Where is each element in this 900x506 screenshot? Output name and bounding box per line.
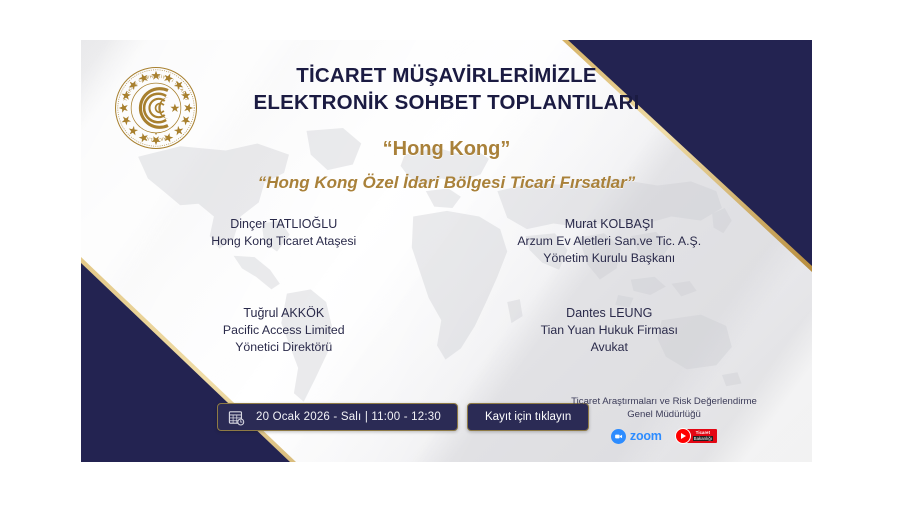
title-line-1: TİCARET MÜŞAVİRLERİMİZLE — [81, 62, 812, 89]
speaker-affiliation: Tian Yuan Hukuk Firması — [447, 322, 773, 339]
speaker-name: Murat KOLBAŞI — [447, 216, 773, 233]
speakers-grid: Dinçer TATLIOĞLU Hong Kong Ticaret Ataşe… — [121, 216, 772, 356]
youtube-channel-logo[interactable]: Ticaret Bakanlığı — [675, 428, 717, 444]
speaker-role: Yönetim Kurulu Başkanı — [447, 250, 773, 267]
event-subtitle: “Hong Kong Özel İdari Bölgesi Ticari Fır… — [81, 173, 812, 193]
event-location-kicker: “Hong Kong” — [81, 138, 812, 161]
speaker-role: Yönetici Direktörü — [121, 339, 447, 356]
speaker-card: Dinçer TATLIOĞLU Hong Kong Ticaret Ataşe… — [121, 216, 447, 267]
event-datetime-bar: 20 Ocak 2026 - Salı | 11:00 - 12:30 — [217, 403, 458, 431]
calendar-clock-icon — [228, 409, 245, 426]
platform-logos: zoom Ticaret Bakanlığı — [534, 428, 794, 444]
channel-brand-top: Ticaret — [693, 431, 713, 435]
poster-title: TİCARET MÜŞAVİRLERİMİZLE ELEKTRONİK SOHB… — [81, 62, 812, 117]
screenshot-canvas: TÜRKİYE CUMHURİYETİ TİCARET BAKANLIĞI — [0, 0, 900, 506]
zoom-logo[interactable]: zoom — [611, 429, 662, 444]
organizer-footer: Ticaret Araştırmaları ve Risk Değerlendi… — [534, 395, 794, 444]
play-icon — [675, 428, 691, 444]
zoom-wordmark: zoom — [630, 429, 662, 443]
event-datetime-text: 20 Ocak 2026 - Salı | 11:00 - 12:30 — [256, 411, 441, 423]
speaker-card: Murat KOLBAŞI Arzum Ev Aletleri San.ve T… — [447, 216, 773, 267]
speaker-name: Dantes LEUNG — [447, 305, 773, 322]
event-poster: TÜRKİYE CUMHURİYETİ TİCARET BAKANLIĞI — [81, 40, 812, 462]
speakers-row-2: Tuğrul AKKÖK Pacific Access Limited Yöne… — [121, 305, 772, 356]
speaker-card: Tuğrul AKKÖK Pacific Access Limited Yöne… — [121, 305, 447, 356]
organizer-line-1: Ticaret Araştırmaları ve Risk Değerlendi… — [534, 395, 794, 408]
organizer-line-2: Genel Müdürlüğü — [534, 408, 794, 421]
speaker-role: Avukat — [447, 339, 773, 356]
speaker-card: Dantes LEUNG Tian Yuan Hukuk Firması Avu… — [447, 305, 773, 356]
channel-brand-bottom: Bakanlığı — [693, 436, 713, 441]
speaker-name: Tuğrul AKKÖK — [121, 305, 447, 322]
speakers-row-1: Dinçer TATLIOĞLU Hong Kong Ticaret Ataşe… — [121, 216, 772, 267]
speaker-affiliation: Hong Kong Ticaret Ataşesi — [121, 233, 447, 250]
speaker-name: Dinçer TATLIOĞLU — [121, 216, 447, 233]
speaker-affiliation: Arzum Ev Aletleri San.ve Tic. A.Ş. — [447, 233, 773, 250]
speaker-affiliation: Pacific Access Limited — [121, 322, 447, 339]
zoom-camera-icon — [611, 429, 626, 444]
title-line-2: ELEKTRONİK SOHBET TOPLANTILARI — [81, 89, 812, 116]
